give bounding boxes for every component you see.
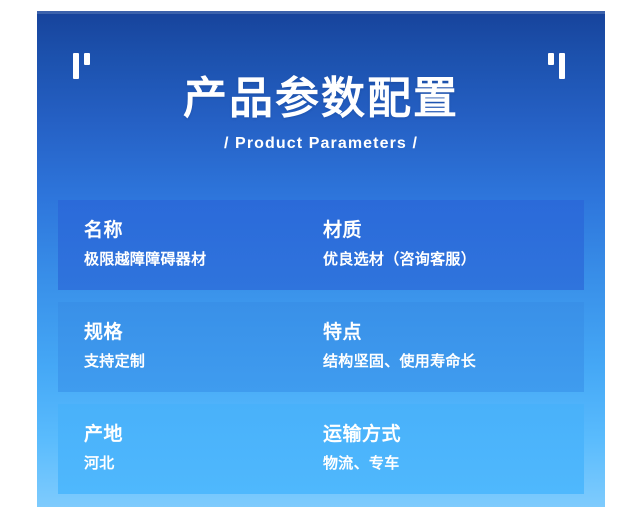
parameter-card: 名称 极限越障障碍器材 材质 优良选材（咨询客服） <box>58 200 584 290</box>
parameter-value: 优良选材（咨询客服） <box>323 249 560 270</box>
parameter-label: 名称 <box>84 217 321 243</box>
parameter-card-list: 名称 极限越障障碍器材 材质 优良选材（咨询客服） 规格 支持定制 特点 结构坚… <box>58 200 584 494</box>
page-subtitle: / Product Parameters / <box>37 133 605 155</box>
parameter-field: 名称 极限越障障碍器材 <box>84 217 321 270</box>
parameter-card: 规格 支持定制 特点 结构坚固、使用寿命长 <box>58 302 584 392</box>
parameter-field: 材质 优良选材（咨询客服） <box>321 217 560 270</box>
parameter-value: 河北 <box>84 453 321 474</box>
quote-close-bar-short <box>548 53 554 65</box>
parameter-value: 极限越障障碍器材 <box>84 249 321 270</box>
banner-panel: 产品参数配置 / Product Parameters / 名称 极限越障障碍器… <box>37 11 605 507</box>
parameter-field: 运输方式 物流、专车 <box>321 421 560 474</box>
page-title: 产品参数配置 <box>37 73 605 125</box>
parameter-field: 特点 结构坚固、使用寿命长 <box>321 319 560 372</box>
quote-open-bar-short <box>84 53 90 65</box>
parameter-field: 规格 支持定制 <box>84 319 321 372</box>
parameter-label: 规格 <box>84 319 321 345</box>
parameter-field: 产地 河北 <box>84 421 321 474</box>
parameter-label: 运输方式 <box>323 421 560 447</box>
banner-heading: 产品参数配置 / Product Parameters / <box>37 73 605 155</box>
product-parameters-banner: 产品参数配置 / Product Parameters / 名称 极限越障障碍器… <box>0 0 622 524</box>
parameter-label: 产地 <box>84 421 321 447</box>
parameter-value: 支持定制 <box>84 351 321 372</box>
parameter-label: 材质 <box>323 217 560 243</box>
parameter-card: 产地 河北 运输方式 物流、专车 <box>58 404 584 494</box>
parameter-value: 物流、专车 <box>323 453 560 474</box>
parameter-value: 结构坚固、使用寿命长 <box>323 351 560 372</box>
parameter-label: 特点 <box>323 319 560 345</box>
